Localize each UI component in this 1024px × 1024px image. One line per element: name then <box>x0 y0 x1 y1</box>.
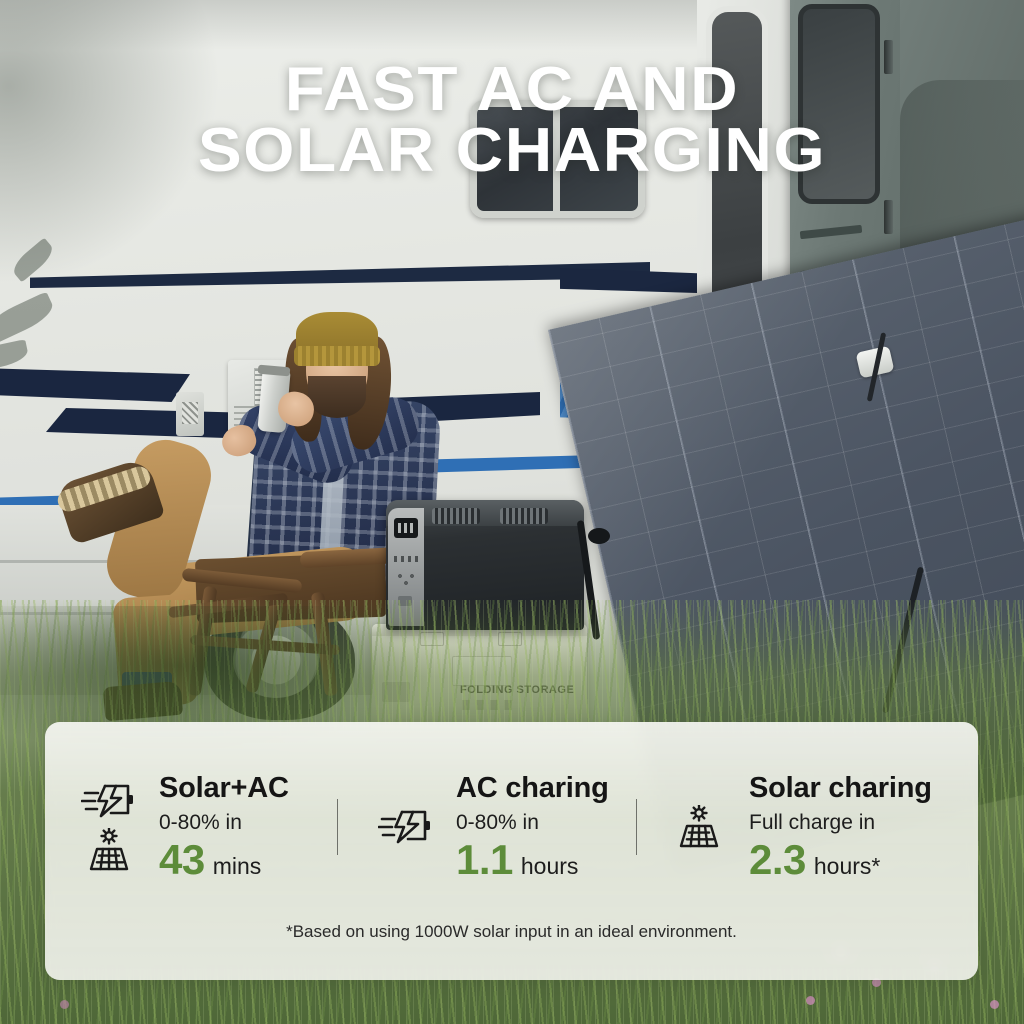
fast-charge-battery-icon <box>81 782 137 820</box>
wildflower <box>60 1000 69 1009</box>
person-beanie-cuff <box>294 346 380 366</box>
spec-icons-group <box>663 805 735 849</box>
spec-subtitle: Full charge in <box>749 811 932 834</box>
spec-value: 1.1 <box>456 839 513 881</box>
spec-unit: mins <box>213 855 262 878</box>
spec-subtitle: 0-80% in <box>159 811 289 834</box>
solar-panel-icon <box>81 828 137 872</box>
spec-unit: hours* <box>814 855 880 878</box>
spec-unit: hours <box>521 855 579 878</box>
wildflower <box>806 996 815 1005</box>
spec-icons-group <box>73 782 145 872</box>
spec-column-solar-ac: Solar+AC 0-80% in 43 mins <box>45 773 337 881</box>
power-station-vent <box>500 508 548 524</box>
headline-line-1: FAST AC AND <box>0 60 1024 121</box>
spec-value-row: 1.1 hours <box>456 839 609 881</box>
spec-subtitle: 0-80% in <box>456 811 609 834</box>
solar-panel-icon <box>671 805 727 849</box>
headline: FAST AC AND SOLAR CHARGING <box>0 60 1024 182</box>
spec-text-group: Solar charing Full charge in 2.3 hours* <box>735 773 932 881</box>
wildflower <box>990 1000 999 1009</box>
spec-title: AC charing <box>456 773 609 803</box>
person-beard <box>308 376 366 418</box>
spec-column-ac: AC charing 0-80% in 1.1 hours <box>338 773 636 881</box>
rv-door-hinge <box>884 200 893 234</box>
spec-value: 2.3 <box>749 839 806 881</box>
power-station-cable-connector <box>588 528 610 544</box>
headline-line-2: SOLAR CHARGING <box>0 121 1024 182</box>
rv-utility-box <box>176 392 204 436</box>
spec-value-row: 2.3 hours* <box>749 839 932 881</box>
charging-specs-panel: Solar+AC 0-80% in 43 mins <box>45 722 978 980</box>
power-station-display <box>394 518 418 538</box>
spec-value: 43 <box>159 839 205 881</box>
spec-text-group: AC charing 0-80% in 1.1 hours <box>442 773 609 881</box>
power-station-indicator-dots <box>396 572 416 586</box>
spec-value-row: 43 mins <box>159 839 289 881</box>
power-station-vent <box>432 508 480 524</box>
spec-title: Solar+AC <box>159 773 289 803</box>
panel-footnote: *Based on using 1000W solar input in an … <box>45 922 978 942</box>
spec-column-solar: Solar charing Full charge in 2.3 hours* <box>637 773 937 881</box>
spec-columns: Solar+AC 0-80% in 43 mins <box>45 742 978 912</box>
power-station-buttons <box>394 556 418 562</box>
fast-charge-battery-icon <box>378 808 434 846</box>
promo-image: FOLDING STORAGE FAST AC AND SOLAR CHARGI… <box>0 0 1024 1024</box>
spec-text-group: Solar+AC 0-80% in 43 mins <box>145 773 289 881</box>
spec-title: Solar charing <box>749 773 932 803</box>
spec-icons-group <box>370 808 442 846</box>
